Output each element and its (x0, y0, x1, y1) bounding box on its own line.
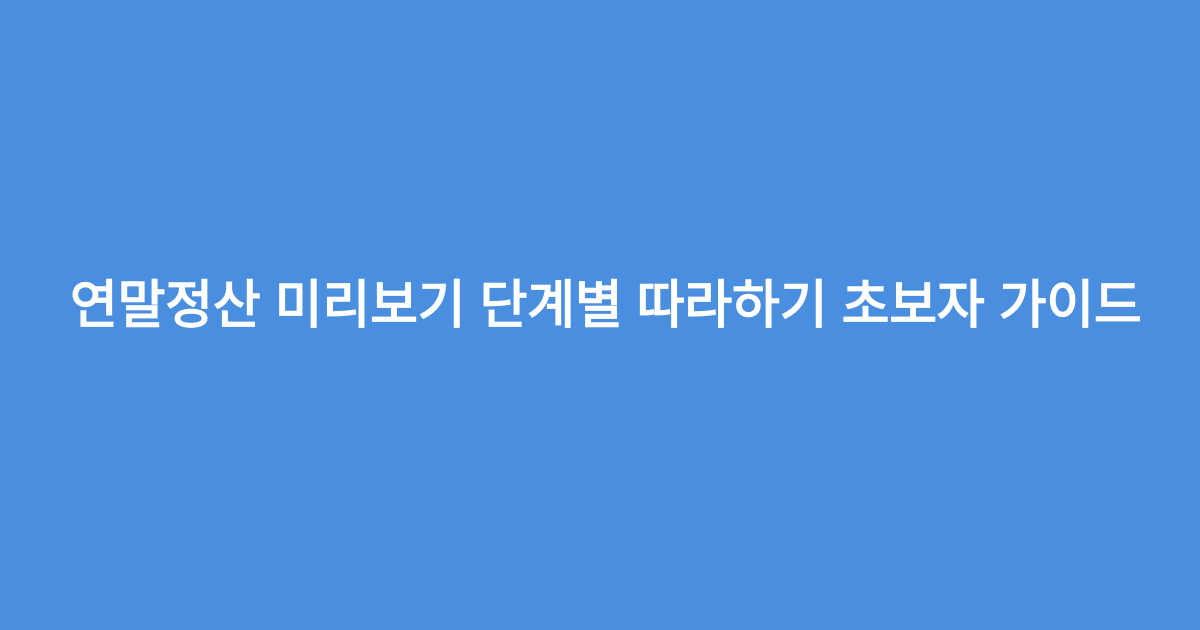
page-title: 연말정산 미리보기 단계별 따라하기 초보자 가이드 (70, 273, 1130, 340)
og-title-card: 연말정산 미리보기 단계별 따라하기 초보자 가이드 (0, 0, 1200, 630)
